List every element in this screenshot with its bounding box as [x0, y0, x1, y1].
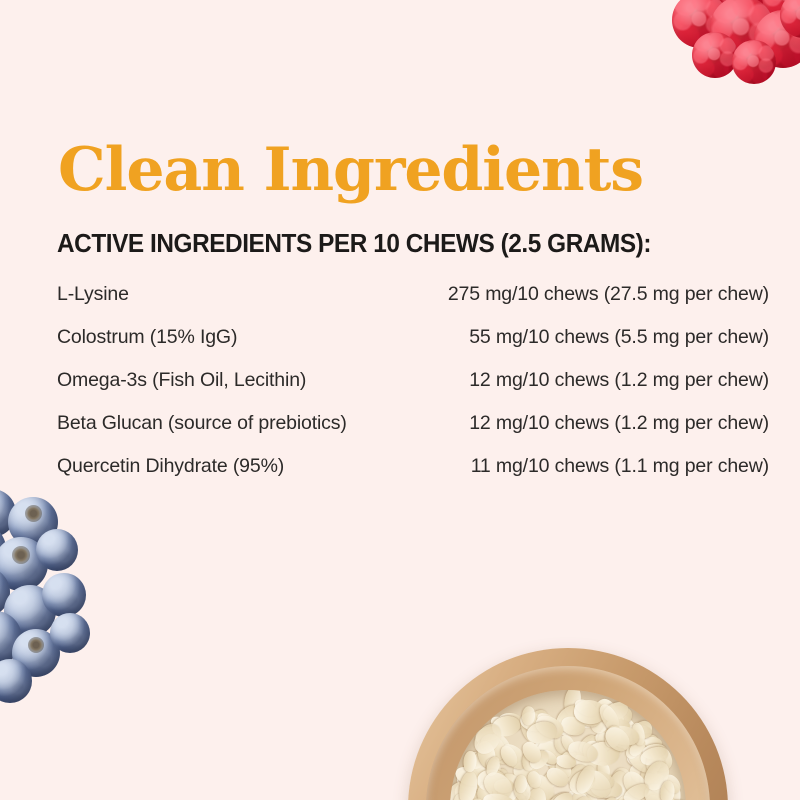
- oat-flake: [585, 705, 612, 725]
- oat-flake: [500, 771, 529, 800]
- oat-flake: [644, 751, 663, 775]
- oat-flake: [612, 783, 625, 800]
- oat-flake: [586, 732, 620, 759]
- oat-flake: [627, 737, 649, 759]
- oat-flake: [623, 716, 657, 751]
- ingredient-row: Beta Glucan (source of prebiotics) 12 mg…: [57, 412, 769, 455]
- oat-flake: [523, 785, 545, 800]
- oat-flake: [477, 770, 506, 792]
- oat-flake: [565, 761, 593, 791]
- raspberry: [762, 0, 800, 24]
- raspberry: [780, 0, 800, 38]
- oat-flake: [539, 767, 564, 792]
- oat-flake: [573, 765, 608, 795]
- oat-flake: [567, 789, 587, 800]
- blueberry: [12, 629, 60, 677]
- oat-flake: [484, 755, 502, 778]
- blueberry: [0, 659, 32, 703]
- blueberry: [0, 489, 16, 537]
- oat-flake: [483, 730, 516, 768]
- oat-flake: [621, 781, 652, 800]
- blueberry: [4, 585, 56, 637]
- oat-bowl-image: [408, 648, 728, 800]
- oat-flake: [526, 792, 555, 800]
- oat-flake: [484, 782, 515, 800]
- oat-flake: [570, 700, 603, 733]
- ingredients-panel: Clean Ingredients ACTIVE INGREDIENTS PER…: [0, 0, 800, 800]
- oat-flake: [476, 739, 495, 755]
- oat-flake: [514, 775, 527, 794]
- oat-flake: [490, 714, 521, 739]
- oat-flake: [624, 737, 646, 761]
- oat-flake: [488, 713, 513, 735]
- raspberry: [710, 0, 774, 60]
- ingredient-name: Quercetin Dihydrate (95%): [57, 455, 284, 478]
- oat-flake: [558, 748, 578, 766]
- oat-flake: [660, 772, 683, 797]
- oat-flake: [626, 749, 655, 771]
- oat-flake: [591, 779, 623, 800]
- ingredient-row: Quercetin Dihydrate (95%) 11 mg/10 chews…: [57, 455, 769, 498]
- oat-flake: [473, 723, 503, 748]
- oat-flake: [526, 769, 543, 789]
- oat-flake: [460, 751, 487, 781]
- oat-flake: [630, 722, 646, 747]
- oat-flake: [511, 777, 533, 800]
- oat-flake: [581, 794, 599, 800]
- raspberry: [732, 40, 776, 84]
- oat-flake: [599, 794, 619, 800]
- ingredient-row: Omega-3s (Fish Oil, Lecithin) 12 mg/10 c…: [57, 369, 769, 412]
- oat-flake: [641, 769, 674, 799]
- oat-flake: [536, 726, 560, 758]
- oat-flake: [573, 763, 599, 796]
- bowl-oats: [450, 690, 687, 800]
- oat-flake: [451, 790, 478, 800]
- oat-flake: [573, 698, 606, 725]
- oat-flake: [542, 751, 563, 768]
- oat-flake: [490, 777, 516, 800]
- oat-flake: [450, 776, 480, 800]
- raspberry: [692, 32, 738, 78]
- oat-flake: [559, 732, 578, 754]
- oat-flake: [641, 748, 668, 770]
- ingredient-row: L-Lysine 275 mg/10 chews (27.5 mg per ch…: [57, 283, 769, 326]
- oat-flake: [614, 794, 642, 800]
- blueberry: [42, 573, 86, 617]
- ingredient-name: Beta Glucan (source of prebiotics): [57, 412, 347, 435]
- ingredient-name: L-Lysine: [57, 283, 129, 306]
- oat-flake: [497, 740, 532, 774]
- oat-flake: [476, 739, 500, 766]
- oat-flake: [533, 786, 543, 800]
- oat-flake: [588, 769, 621, 800]
- oat-flake: [476, 783, 494, 800]
- oat-flake: [522, 706, 537, 726]
- oat-flake: [620, 732, 642, 753]
- raspberries-image: [662, 0, 800, 88]
- oat-flake: [638, 744, 670, 768]
- oat-flake: [601, 723, 634, 756]
- oat-flake: [575, 704, 597, 721]
- page-title: Clean Ingredients: [58, 140, 643, 200]
- oat-flake: [494, 778, 514, 793]
- oat-flake: [638, 737, 677, 777]
- bowl-exterior: [408, 648, 728, 800]
- oat-flake: [534, 737, 568, 769]
- oat-flake: [639, 763, 658, 793]
- ingredient-amount: 275 mg/10 chews (27.5 mg per chew): [448, 283, 769, 306]
- oat-flake: [625, 747, 656, 777]
- oat-flake: [525, 719, 559, 746]
- oat-flake: [610, 767, 634, 798]
- oat-flake: [460, 778, 488, 800]
- oat-flake: [628, 781, 655, 799]
- oat-flake: [567, 751, 603, 783]
- oat-flake: [520, 769, 559, 800]
- oat-flake: [525, 786, 548, 800]
- oat-flake: [482, 791, 516, 800]
- oat-flake: [476, 729, 510, 765]
- ingredient-name: Omega-3s (Fish Oil, Lecithin): [57, 369, 306, 392]
- oat-flake: [457, 770, 480, 800]
- raspberry: [684, 0, 746, 22]
- oat-flake: [529, 796, 548, 800]
- oat-flake: [561, 789, 593, 800]
- oat-flake: [549, 767, 577, 785]
- oat-flake: [565, 766, 599, 799]
- oat-flake: [551, 790, 574, 800]
- oat-flake: [576, 705, 611, 730]
- oat-flake: [565, 750, 585, 771]
- oat-flake: [521, 775, 537, 798]
- oat-flake: [574, 791, 593, 800]
- oat-flake: [559, 714, 587, 738]
- oat-flake: [539, 748, 559, 767]
- oat-flake: [643, 792, 668, 800]
- oat-flake: [453, 764, 485, 791]
- oat-flake: [593, 729, 614, 749]
- oat-flake: [591, 770, 613, 787]
- oat-flake: [562, 707, 584, 725]
- blueberry: [0, 537, 48, 591]
- oat-flake: [553, 701, 586, 738]
- oat-flake: [517, 709, 548, 747]
- oat-flake: [457, 768, 486, 791]
- oat-flake: [535, 710, 556, 727]
- blueberry: [0, 523, 6, 575]
- oat-flake: [667, 783, 681, 800]
- blueberry: [50, 613, 90, 653]
- oat-flake: [496, 772, 520, 800]
- oat-flake: [488, 795, 517, 800]
- ingredient-list: L-Lysine 275 mg/10 chews (27.5 mg per ch…: [57, 283, 769, 498]
- blueberry: [0, 567, 10, 617]
- oat-flake: [580, 768, 616, 791]
- oat-flake: [529, 789, 564, 800]
- oat-flake: [572, 702, 604, 730]
- oat-flake: [497, 743, 520, 769]
- oat-flake: [538, 796, 563, 800]
- oat-flake: [546, 751, 564, 778]
- oat-flake: [473, 785, 492, 800]
- blueberry: [0, 611, 22, 665]
- oat-flake: [595, 719, 620, 747]
- raspberry: [728, 0, 786, 6]
- oat-flake: [629, 730, 646, 756]
- oat-flake: [615, 722, 647, 751]
- oat-flake: [595, 701, 622, 734]
- oat-flake: [543, 764, 575, 790]
- oat-flake: [521, 780, 554, 800]
- oat-flake: [625, 724, 653, 739]
- ingredient-amount: 12 mg/10 chews (1.2 mg per chew): [469, 369, 769, 392]
- oat-flake: [479, 767, 517, 800]
- oat-flake: [494, 784, 530, 800]
- oat-flake: [587, 741, 620, 766]
- ingredient-amount: 12 mg/10 chews (1.2 mg per chew): [469, 412, 769, 435]
- oat-flake: [613, 778, 645, 800]
- section-subheading: ACTIVE INGREDIENTS PER 10 CHEWS (2.5 GRA…: [57, 232, 651, 258]
- oat-flake: [552, 700, 590, 736]
- oat-flake: [641, 743, 667, 761]
- oat-flake: [477, 738, 505, 771]
- oat-flake: [469, 761, 492, 785]
- oat-flake: [459, 753, 499, 795]
- oat-flake: [566, 794, 597, 800]
- oat-flake: [450, 777, 490, 800]
- oat-flake: [521, 751, 535, 771]
- oat-flake: [512, 796, 536, 800]
- oat-flake: [608, 705, 633, 724]
- oat-flake: [450, 786, 484, 800]
- oat-flake: [526, 747, 552, 772]
- oat-flake: [639, 779, 676, 800]
- oat-flake: [604, 768, 630, 800]
- raspberry: [754, 10, 800, 68]
- blueberry: [8, 497, 58, 547]
- oat-flake: [601, 698, 631, 724]
- oat-flake: [543, 764, 571, 790]
- blueberries-image: [0, 489, 104, 684]
- oat-flake: [469, 719, 506, 758]
- blueberry: [36, 529, 78, 571]
- raspberry: [672, 0, 728, 48]
- oat-flake: [595, 760, 611, 780]
- oat-flake: [479, 794, 512, 800]
- oat-flake: [607, 723, 641, 747]
- oat-flake: [578, 756, 610, 792]
- oat-flake: [566, 738, 600, 765]
- oat-flake: [603, 724, 624, 750]
- oat-flake: [484, 756, 504, 777]
- oat-flake: [640, 758, 673, 795]
- oat-flake: [643, 736, 663, 750]
- ingredient-row: Colostrum (15% IgG) 55 mg/10 chews (5.5 …: [57, 326, 769, 369]
- oat-flake: [526, 773, 552, 800]
- oat-flake: [534, 739, 555, 753]
- oat-flake: [521, 742, 544, 769]
- oat-flake: [659, 780, 676, 800]
- oat-flake: [475, 739, 498, 769]
- oat-flake: [614, 713, 645, 747]
- oat-flake: [645, 770, 675, 796]
- oat-flake: [467, 748, 491, 772]
- oat-flake: [560, 709, 592, 739]
- oat-flake: [553, 758, 574, 781]
- oat-flake: [611, 729, 643, 751]
- oat-flake: [521, 706, 552, 737]
- oat-flake: [492, 777, 520, 800]
- ingredient-amount: 11 mg/10 chews (1.1 mg per chew): [471, 455, 769, 478]
- ingredient-name: Colostrum (15% IgG): [57, 326, 237, 349]
- oat-flake: [575, 765, 616, 800]
- oat-flake: [518, 710, 548, 734]
- oat-flake: [619, 767, 653, 800]
- oat-flake: [485, 766, 511, 792]
- oat-flake: [603, 746, 623, 763]
- oat-flake: [601, 703, 627, 731]
- oat-flake: [532, 711, 567, 742]
- oat-flake: [553, 733, 571, 755]
- oat-flake: [463, 751, 477, 772]
- oat-flake: [562, 690, 583, 717]
- oat-flake: [587, 704, 613, 735]
- oat-flake: [609, 709, 639, 738]
- oat-flake: [646, 791, 682, 800]
- oat-flake: [606, 718, 630, 733]
- oat-flake: [577, 733, 600, 757]
- oat-flake: [465, 751, 487, 767]
- bowl-rim: [426, 666, 710, 800]
- oat-flake: [592, 696, 622, 728]
- oat-flake: [632, 733, 659, 753]
- oat-flake: [481, 796, 498, 800]
- oat-flake: [497, 712, 523, 732]
- oat-flake: [509, 758, 542, 788]
- ingredient-amount: 55 mg/10 chews (5.5 mg per chew): [469, 326, 769, 349]
- oat-flake: [579, 736, 615, 774]
- oat-flake: [519, 738, 544, 765]
- oat-flake: [572, 697, 600, 721]
- oat-flake: [626, 760, 656, 789]
- oat-flake: [472, 786, 502, 800]
- oat-flake: [570, 792, 589, 800]
- oat-flake: [542, 788, 577, 800]
- oat-flake: [572, 774, 589, 795]
- oat-flake: [555, 753, 577, 770]
